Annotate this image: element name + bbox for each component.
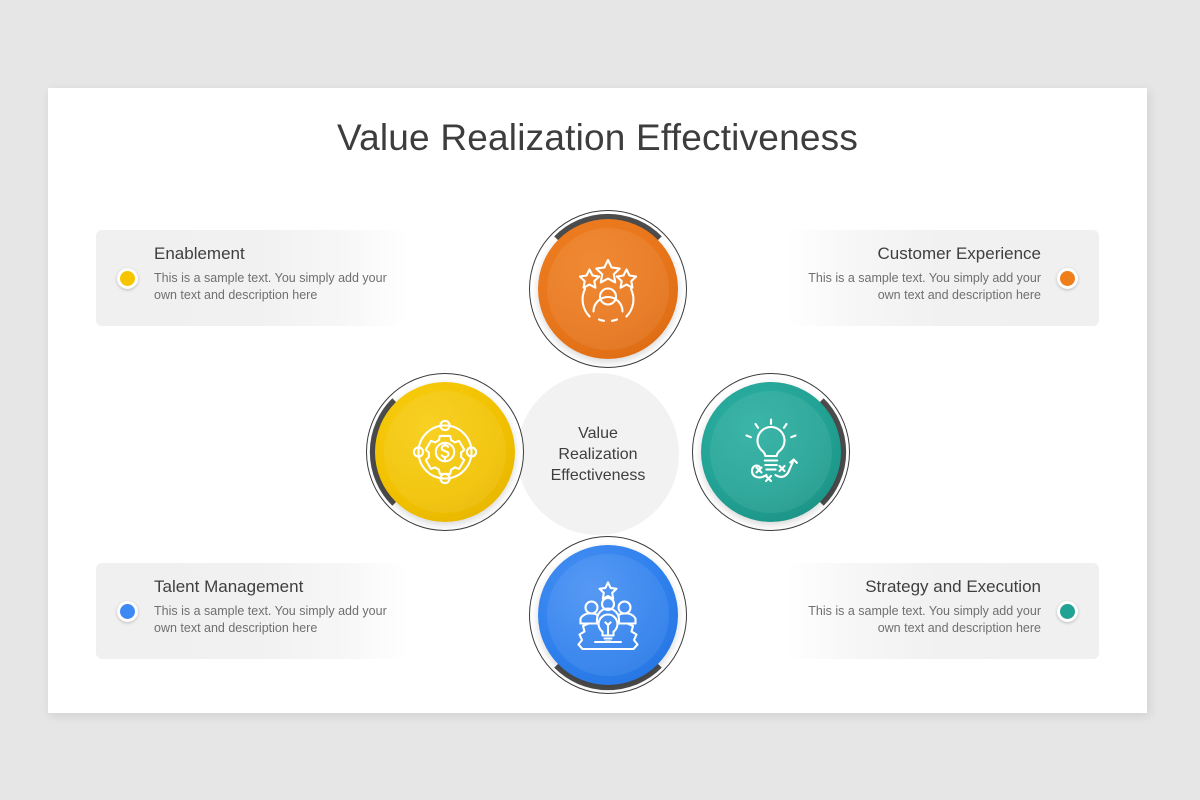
wheel-node-strategy-and-execution[interactable] [692, 373, 850, 531]
wheel-hub-label: Value Realization Effectiveness [551, 423, 646, 486]
team-gear-bulb-icon [569, 576, 647, 654]
node-disc [538, 219, 678, 359]
wheel-node-customer-experience[interactable] [529, 210, 687, 368]
node-disc [375, 382, 515, 522]
stars-person-icon [569, 250, 647, 328]
bullet-dot-talent-management [117, 601, 138, 622]
value-wheel-diagram: Value Realization Effectiveness [335, 193, 860, 673]
bullet-dot-strategy-and-execution [1057, 601, 1078, 622]
gear-dollar-network-icon [406, 413, 484, 491]
bullet-dot-customer-experience [1057, 268, 1078, 289]
wheel-node-talent-management[interactable] [529, 536, 687, 694]
node-disc [538, 545, 678, 685]
wheel-hub: Value Realization Effectiveness [517, 373, 679, 535]
bullet-dot-enablement [117, 268, 138, 289]
lightbulb-strategy-icon [732, 413, 810, 491]
page-title: Value Realization Effectiveness [48, 117, 1147, 159]
wheel-node-enablement[interactable] [366, 373, 524, 531]
slide-card: Value Realization Effectiveness Enableme… [48, 88, 1147, 713]
node-disc [701, 382, 841, 522]
